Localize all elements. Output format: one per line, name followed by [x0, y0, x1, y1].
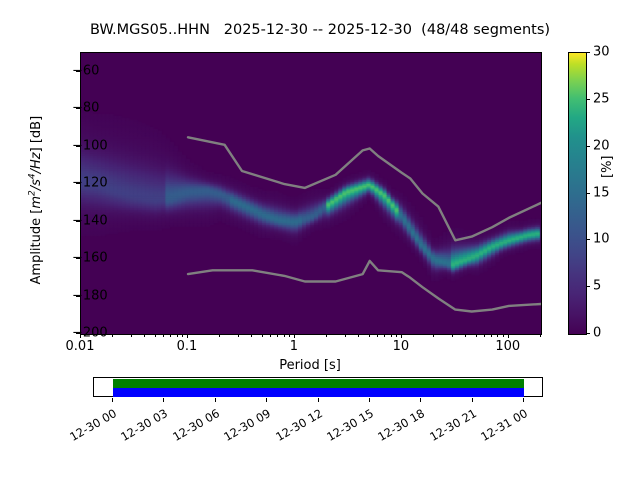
coverage-segment-green	[113, 379, 524, 388]
y-axis-title-suffix: ] [dB]	[29, 116, 44, 153]
y-axis-title-prefix: Amplitude [	[29, 209, 44, 285]
y-axis-title: Amplitude [m2/s4/Hz] [dB]	[28, 80, 44, 320]
data-coverage-bar[interactable]	[93, 377, 543, 397]
nhnm-curve	[188, 137, 541, 240]
x-axis-title: Period [s]	[0, 358, 620, 373]
colorbar-title: [%]	[600, 156, 615, 179]
y-axis-title-units: m2/s4/Hz	[29, 152, 44, 208]
noise-model-curves	[81, 53, 541, 334]
page-title: BW.MGS05..HHN 2025-12-30 -- 2025-12-30 (…	[0, 22, 640, 38]
ppsd-plot-canvas	[81, 53, 541, 334]
colorbar	[568, 52, 587, 335]
coverage-segment-blue	[113, 388, 524, 397]
ppsd-plot-axes	[80, 52, 542, 335]
nlnm-curve	[188, 261, 541, 312]
